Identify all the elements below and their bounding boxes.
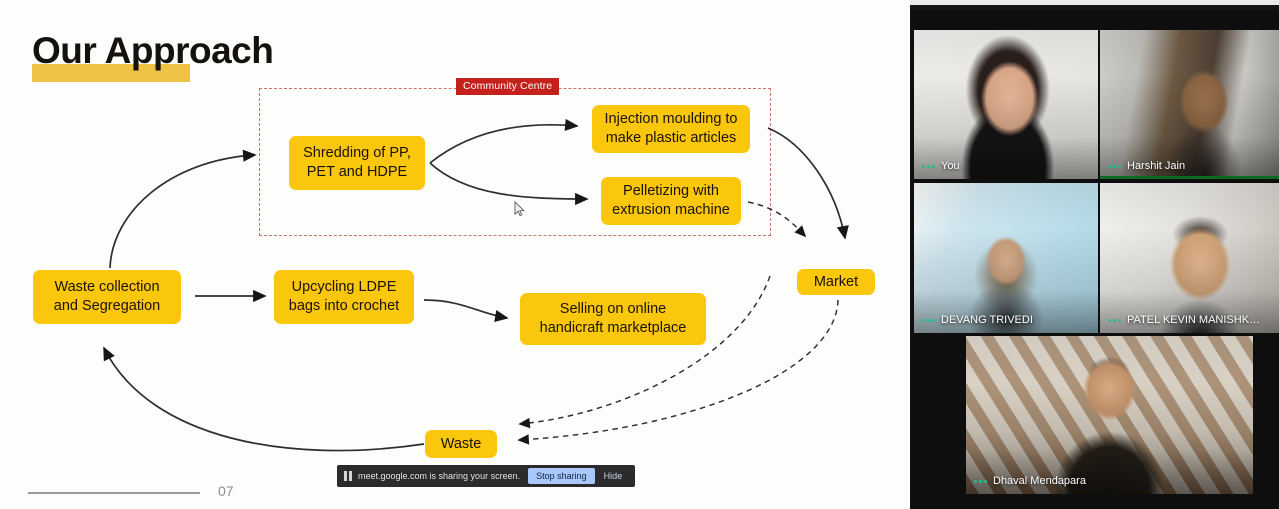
mouse-cursor-icon (514, 201, 526, 217)
participant-name: You (941, 160, 960, 172)
browser-chrome-strip (910, 0, 1279, 9)
mic-activity-icon (1108, 165, 1121, 168)
node-waste-collection[interactable]: Waste collection and Segregation (33, 270, 181, 324)
screen-share-notification-bar: meet.google.com is sharing your screen. … (337, 465, 635, 487)
page-title-text: Our Approach (32, 32, 273, 69)
speaking-indicator-border (1100, 176, 1279, 179)
video-tile-patel-kevin[interactable]: PATEL KEVIN MANISHK… (1100, 183, 1279, 333)
node-waste[interactable]: Waste (425, 430, 497, 458)
nameplate: You (914, 156, 968, 179)
mic-activity-icon (974, 480, 987, 483)
stop-sharing-button[interactable]: Stop sharing (528, 468, 595, 484)
page-title: Our Approach (32, 32, 273, 69)
participant-name: PATEL KEVIN MANISHK… (1127, 314, 1260, 326)
node-pelletizing[interactable]: Pelletizing with extrusion machine (601, 177, 741, 225)
video-tile-harshit-jain[interactable]: Harshit Jain (1100, 30, 1279, 179)
browser-toolbar-sliver (910, 0, 1279, 5)
node-market[interactable]: Market (797, 269, 875, 295)
page-number: 07 (218, 483, 234, 499)
shared-slide: Our Approach Community Centre (0, 0, 910, 509)
video-tile-you[interactable]: You (914, 30, 1098, 179)
video-tile-devang-trivedi[interactable]: DEVANG TRIVEDI (914, 183, 1098, 333)
screen-share-window: Our Approach Community Centre (0, 0, 1279, 509)
node-upcycling-ldpe[interactable]: Upcycling LDPE bags into crochet (274, 270, 414, 324)
nameplate: Dhaval Mendapara (966, 471, 1094, 494)
nameplate: DEVANG TRIVEDI (914, 310, 1041, 333)
mic-activity-icon (922, 165, 935, 168)
share-message: meet.google.com is sharing your screen. (358, 471, 520, 481)
mic-activity-icon (922, 319, 935, 322)
mic-activity-icon (1108, 319, 1121, 322)
pause-icon (344, 471, 352, 481)
community-centre-badge: Community Centre (456, 78, 559, 95)
participant-name: Dhaval Mendapara (993, 475, 1086, 487)
node-shredding[interactable]: Shredding of PP, PET and HDPE (289, 136, 425, 190)
participant-video-panel: You Harshit Jain DEVANG TRIVEDI (910, 0, 1279, 509)
participant-name: Harshit Jain (1127, 160, 1185, 172)
participant-name: DEVANG TRIVEDI (941, 314, 1033, 326)
nameplate: PATEL KEVIN MANISHK… (1100, 310, 1268, 333)
video-tile-dhaval-mendapara[interactable]: Dhaval Mendapara (966, 336, 1253, 494)
node-injection-moulding[interactable]: Injection moulding to make plastic artic… (592, 105, 750, 153)
hide-button[interactable]: Hide (595, 468, 632, 484)
footer-divider (28, 492, 200, 494)
node-selling-online[interactable]: Selling on online handicraft marketplace (520, 293, 706, 345)
